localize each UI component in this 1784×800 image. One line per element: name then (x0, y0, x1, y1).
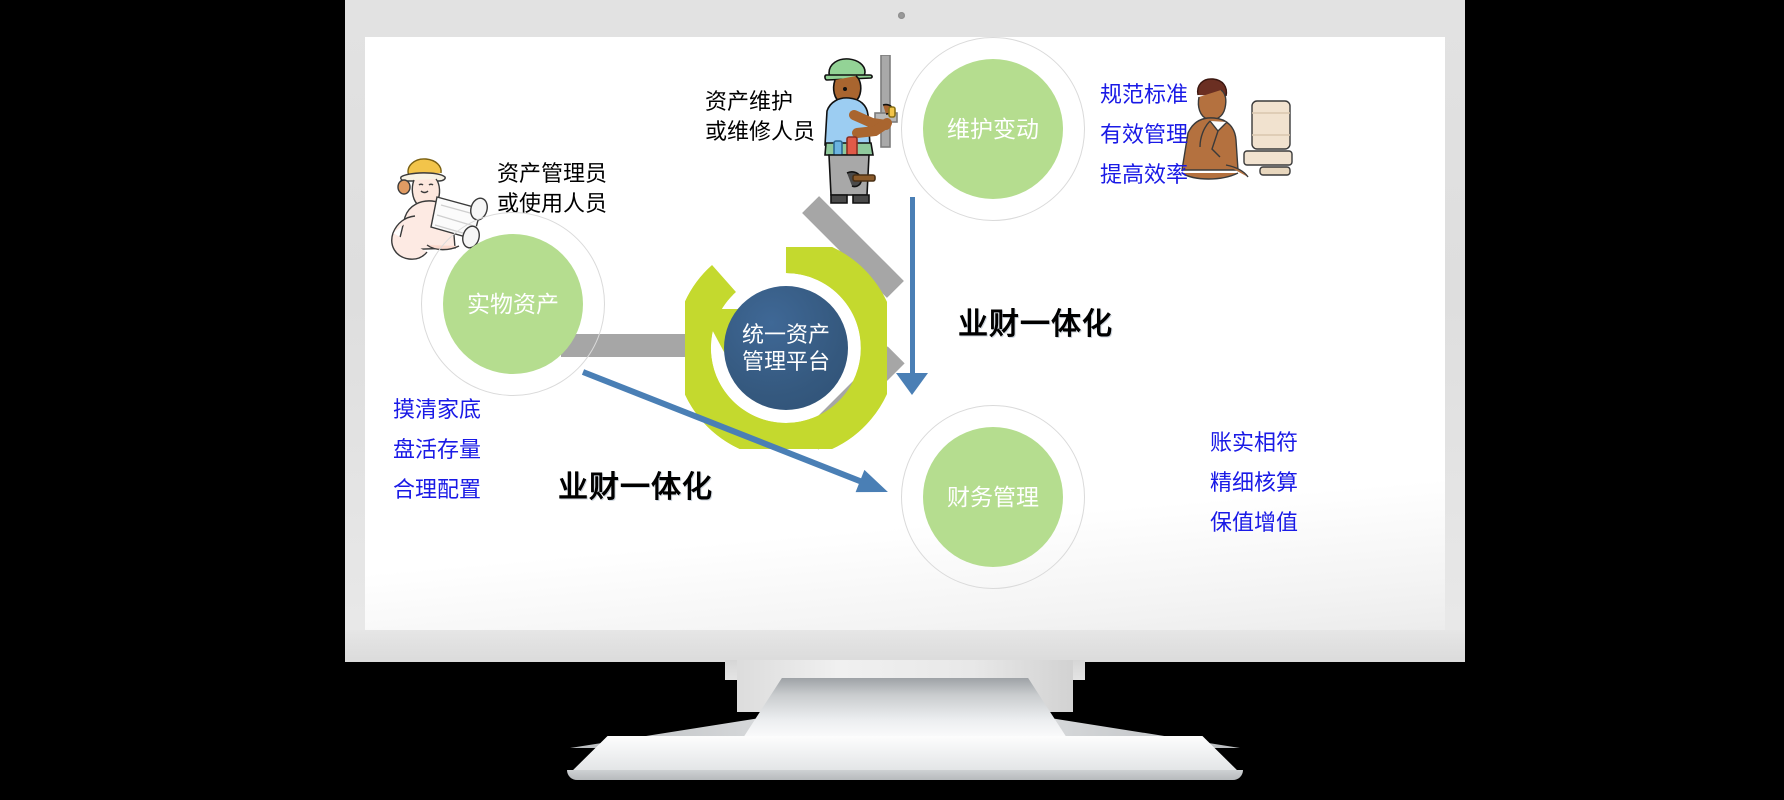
node-physical-assets[interactable]: 实物资产 (443, 234, 583, 374)
label-asset-manager: 资产管理员 或使用人员 (497, 159, 607, 218)
bullets-physical-assets: 摸清家底 盘活存量 合理配置 (393, 390, 481, 510)
bullet-maint-2: 有效管理 (1100, 115, 1188, 155)
bullet-maint-1: 规范标准 (1100, 75, 1188, 115)
label-asset-manager-line1: 资产管理员 (497, 159, 607, 189)
node-financial-management-label: 财务管理 (947, 483, 1039, 511)
bullets-finance: 账实相符 精细核算 保值增值 (1210, 423, 1298, 543)
monitor-device: 资产管理员 或使用人员 资产维护 或维修人员 实物资产 维护变动 (345, 0, 1465, 800)
bullet-left-3: 合理配置 (393, 470, 481, 510)
label-maintenance-staff: 资产维护 或维修人员 (705, 87, 815, 146)
bullets-maintenance: 规范标准 有效管理 提高效率 (1100, 75, 1188, 195)
node-physical-assets-label: 实物资产 (467, 290, 559, 318)
monitor-base-top (743, 678, 1067, 738)
label-maintenance-line1: 资产维护 (705, 87, 815, 117)
bullet-fin-2: 精细核算 (1210, 463, 1298, 503)
center-platform-node[interactable]: 统一资产 管理平台 (724, 286, 848, 410)
center-platform-line1: 统一资产 (742, 321, 830, 349)
label-maintenance-line2: 或维修人员 (705, 117, 815, 147)
node-maintenance-change-label: 维护变动 (947, 115, 1039, 143)
monitor-lower-frame (345, 630, 1465, 662)
node-maintenance-change[interactable]: 维护变动 (923, 59, 1063, 199)
emphasis-label-left: 业财一体化 (558, 462, 713, 506)
monitor-screen[interactable]: 资产管理员 或使用人员 资产维护 或维修人员 实物资产 维护变动 (365, 37, 1445, 630)
arrow-down-shaft (910, 197, 915, 379)
bullet-maint-3: 提高效率 (1100, 155, 1188, 195)
emphasis-label-right: 业财一体化 (958, 299, 1113, 343)
bullet-fin-1: 账实相符 (1210, 423, 1298, 463)
bullet-fin-3: 保值增值 (1210, 503, 1298, 543)
node-financial-management[interactable]: 财务管理 (923, 427, 1063, 567)
webcam-dot-icon (898, 12, 905, 19)
monitor-base-edge (567, 770, 1243, 780)
bullet-left-1: 摸清家底 (393, 390, 481, 430)
center-platform-line2: 管理平台 (742, 348, 830, 376)
screenshot-stage: 资产管理员 或使用人员 资产维护 或维修人员 实物资产 维护变动 (0, 0, 1784, 800)
arrow-down-head-icon (896, 373, 928, 395)
bullet-left-2: 盘活存量 (393, 430, 481, 470)
arrow-diagonal-head-icon (856, 470, 893, 503)
